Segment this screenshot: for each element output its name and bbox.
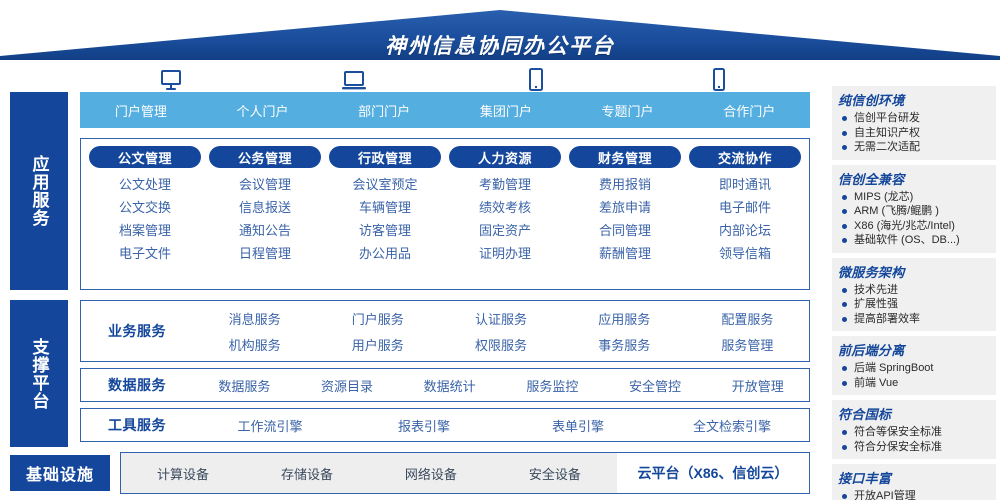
feature-section-title-5: 接口丰富 bbox=[838, 468, 990, 487]
tool-cell-0[interactable]: 工作流引擎 bbox=[193, 416, 347, 435]
app-item-2-2[interactable]: 访客管理 bbox=[359, 224, 411, 237]
feature-item-4-1: 符合分保安全标准 bbox=[838, 440, 990, 455]
tool-service-row: 工作流引擎 报表引擎 表单引擎 全文检索引擎 bbox=[193, 416, 809, 435]
app-item-4-0[interactable]: 费用报销 bbox=[599, 178, 651, 191]
platform-title: 神州信息协同办公平台 bbox=[0, 30, 1000, 60]
app-item-4-1[interactable]: 差旅申请 bbox=[599, 201, 651, 214]
app-item-5-3[interactable]: 领导信箱 bbox=[719, 247, 771, 260]
feature-item-5-0: 开放API管理 bbox=[838, 489, 990, 500]
app-column-2: 行政管理 会议室预定 车辆管理 访客管理 办公用品 bbox=[325, 146, 445, 285]
feature-section-title-0: 纯信创环境 bbox=[838, 90, 990, 109]
feature-section-title-1: 信创全兼容 bbox=[838, 169, 990, 188]
tablet-icon bbox=[528, 68, 544, 92]
app-item-3-2[interactable]: 固定资产 bbox=[479, 224, 531, 237]
app-item-1-1[interactable]: 信息报送 bbox=[239, 201, 291, 214]
data-service-row: 数据服务 资源目录 数据统计 服务监控 安全管控 开放管理 bbox=[193, 376, 809, 395]
feature-item-0-0: 信创平台研发 bbox=[838, 111, 990, 126]
business-cell-0-1[interactable]: 门户服务 bbox=[316, 309, 439, 328]
tool-cell-3[interactable]: 全文检索引擎 bbox=[655, 416, 809, 435]
feature-section-5: 接口丰富 开放API管理 bbox=[832, 464, 996, 500]
app-item-5-1[interactable]: 电子邮件 bbox=[719, 201, 771, 214]
app-item-2-3[interactable]: 办公用品 bbox=[359, 247, 411, 260]
infrastructure-box: 计算设备 存储设备 网络设备 安全设备 云平台（X86、信创云） bbox=[120, 452, 810, 494]
feature-item-3-0: 后端 SpringBoot bbox=[838, 361, 990, 376]
feature-item-2-0: 技术先进 bbox=[838, 283, 990, 298]
app-column-title-4[interactable]: 财务管理 bbox=[569, 146, 681, 168]
app-column-title-2[interactable]: 行政管理 bbox=[329, 146, 441, 168]
infra-cell-1[interactable]: 存储设备 bbox=[245, 464, 369, 483]
app-item-4-3[interactable]: 薪酬管理 bbox=[599, 247, 651, 260]
feature-section-0: 纯信创环境 信创平台研发 自主知识产权 无需二次适配 bbox=[832, 86, 996, 160]
feature-panel: 纯信创环境 信创平台研发 自主知识产权 无需二次适配 信创全兼容 MIPS (龙… bbox=[832, 86, 996, 500]
app-item-1-2[interactable]: 通知公告 bbox=[239, 224, 291, 237]
app-item-4-2[interactable]: 合同管理 bbox=[599, 224, 651, 237]
feature-section-4: 符合国标 符合等保安全标准 符合分保安全标准 bbox=[832, 400, 996, 459]
feature-section-2: 微服务架构 技术先进 扩展性强 提高部署效率 bbox=[832, 258, 996, 332]
device-cell-phone bbox=[628, 60, 811, 92]
feature-section-title-4: 符合国标 bbox=[838, 404, 990, 423]
data-cell-1[interactable]: 资源目录 bbox=[296, 376, 399, 395]
laptop-icon bbox=[341, 70, 367, 92]
business-cell-1-0[interactable]: 机构服务 bbox=[193, 335, 316, 354]
feature-item-0-2: 无需二次适配 bbox=[838, 140, 990, 155]
feature-section-title-3: 前后端分离 bbox=[838, 340, 990, 359]
data-cell-2[interactable]: 数据统计 bbox=[398, 376, 501, 395]
app-item-0-1[interactable]: 公文交换 bbox=[119, 201, 171, 214]
tool-service-grid: 工作流引擎 报表引擎 表单引擎 全文检索引擎 bbox=[193, 416, 809, 435]
feature-item-1-3: 基础软件 (OS、DB...) bbox=[838, 233, 990, 248]
diagram-root: 神州信息协同办公平台 bbox=[0, 0, 1000, 500]
business-cell-1-2[interactable]: 权限服务 bbox=[439, 335, 562, 354]
device-icon-row bbox=[80, 60, 810, 92]
feature-item-0-1: 自主知识产权 bbox=[838, 126, 990, 141]
desktop-monitor-icon bbox=[159, 68, 183, 92]
feature-item-1-1: ARM (飞腾/鲲鹏 ) bbox=[838, 204, 990, 219]
business-service-row-0: 消息服务 门户服务 认证服务 应用服务 配置服务 bbox=[193, 309, 809, 328]
device-cell-desktop bbox=[80, 60, 263, 92]
tool-cell-2[interactable]: 表单引擎 bbox=[501, 416, 655, 435]
business-service-grid: 消息服务 门户服务 认证服务 应用服务 配置服务 机构服务 用户服务 权限服务 … bbox=[193, 309, 809, 354]
app-item-3-0[interactable]: 考勤管理 bbox=[479, 178, 531, 191]
data-service-grid: 数据服务 资源目录 数据统计 服务监控 安全管控 开放管理 bbox=[193, 376, 809, 395]
portal-item-5[interactable]: 合作门户 bbox=[688, 101, 810, 120]
data-cell-0[interactable]: 数据服务 bbox=[193, 376, 296, 395]
app-item-3-1[interactable]: 绩效考核 bbox=[479, 201, 531, 214]
business-cell-0-2[interactable]: 认证服务 bbox=[439, 309, 562, 328]
app-column-title-5[interactable]: 交流协作 bbox=[689, 146, 801, 168]
app-item-0-3[interactable]: 电子文件 bbox=[119, 247, 171, 260]
tool-service-label: 工具服务 bbox=[81, 415, 193, 435]
infra-cell-2[interactable]: 网络设备 bbox=[369, 464, 493, 483]
feature-item-3-1: 前端 Vue bbox=[838, 376, 990, 391]
tool-service-box: 工具服务 工作流引擎 报表引擎 表单引擎 全文检索引擎 bbox=[80, 408, 810, 442]
feature-item-1-2: X86 (海光/兆芯/Intel) bbox=[838, 219, 990, 234]
infra-cell-0[interactable]: 计算设备 bbox=[121, 464, 245, 483]
app-column-4: 财务管理 费用报销 差旅申请 合同管理 薪酬管理 bbox=[565, 146, 685, 285]
data-service-label: 数据服务 bbox=[81, 375, 193, 395]
tool-cell-1[interactable]: 报表引擎 bbox=[347, 416, 501, 435]
infra-cell-3[interactable]: 安全设备 bbox=[493, 464, 617, 483]
rail-support-platform: 支撑平台 bbox=[10, 300, 68, 447]
business-service-label: 业务服务 bbox=[81, 321, 193, 341]
business-cell-0-4[interactable]: 配置服务 bbox=[686, 309, 809, 328]
app-item-0-2[interactable]: 档案管理 bbox=[119, 224, 171, 237]
application-module-box: 公文管理 公文处理 公文交换 档案管理 电子文件 公务管理 会议管理 信息报送 … bbox=[80, 138, 810, 290]
app-column-5: 交流协作 即时通讯 电子邮件 内部论坛 领导信箱 bbox=[685, 146, 805, 285]
business-cell-1-3[interactable]: 事务服务 bbox=[563, 335, 686, 354]
data-cell-3[interactable]: 服务监控 bbox=[501, 376, 604, 395]
app-column-3: 人力资源 考勤管理 绩效考核 固定资产 证明办理 bbox=[445, 146, 565, 285]
app-item-5-2[interactable]: 内部论坛 bbox=[719, 224, 771, 237]
data-service-box: 数据服务 数据服务 资源目录 数据统计 服务监控 安全管控 开放管理 bbox=[80, 368, 810, 402]
app-column-title-0[interactable]: 公文管理 bbox=[89, 146, 201, 168]
business-cell-1-1[interactable]: 用户服务 bbox=[316, 335, 439, 354]
app-column-1: 公务管理 会议管理 信息报送 通知公告 日程管理 bbox=[205, 146, 325, 285]
feature-item-4-0: 符合等保安全标准 bbox=[838, 425, 990, 440]
feature-item-1-0: MIPS (龙芯) bbox=[838, 190, 990, 205]
app-column-0: 公文管理 公文处理 公文交换 档案管理 电子文件 bbox=[85, 146, 205, 285]
app-item-0-0[interactable]: 公文处理 bbox=[119, 178, 171, 191]
app-item-2-1[interactable]: 车辆管理 bbox=[359, 201, 411, 214]
data-cell-4[interactable]: 安全管控 bbox=[604, 376, 707, 395]
portal-item-1[interactable]: 个人门户 bbox=[202, 101, 324, 120]
portal-item-3[interactable]: 集团门户 bbox=[445, 101, 567, 120]
business-service-row-1: 机构服务 用户服务 权限服务 事务服务 服务管理 bbox=[193, 335, 809, 354]
infra-cell-cloud-platform[interactable]: 云平台（X86、信创云） bbox=[617, 453, 809, 493]
portal-item-0[interactable]: 门户管理 bbox=[80, 101, 202, 120]
app-item-1-0[interactable]: 会议管理 bbox=[239, 178, 291, 191]
device-cell-tablet bbox=[445, 60, 628, 92]
rail-application-service: 应用服务 bbox=[10, 92, 68, 290]
business-cell-0-0[interactable]: 消息服务 bbox=[193, 309, 316, 328]
phone-icon bbox=[712, 68, 726, 92]
feature-section-3: 前后端分离 后端 SpringBoot 前端 Vue bbox=[832, 336, 996, 395]
business-service-box: 业务服务 消息服务 门户服务 认证服务 应用服务 配置服务 机构服务 用户服务 … bbox=[80, 300, 810, 362]
portal-item-2[interactable]: 部门门户 bbox=[323, 101, 445, 120]
app-item-1-3[interactable]: 日程管理 bbox=[239, 247, 291, 260]
app-item-2-0[interactable]: 会议室预定 bbox=[352, 178, 417, 191]
portal-bar: 门户管理 个人门户 部门门户 集团门户 专题门户 合作门户 bbox=[80, 92, 810, 128]
portal-item-4[interactable]: 专题门户 bbox=[567, 101, 689, 120]
feature-section-title-2: 微服务架构 bbox=[838, 262, 990, 281]
roof-banner: 神州信息协同办公平台 bbox=[0, 8, 1000, 60]
feature-item-2-2: 提高部署效率 bbox=[838, 312, 990, 327]
data-cell-5[interactable]: 开放管理 bbox=[706, 376, 809, 395]
business-cell-1-4[interactable]: 服务管理 bbox=[686, 335, 809, 354]
feature-item-2-1: 扩展性强 bbox=[838, 297, 990, 312]
app-item-3-3[interactable]: 证明办理 bbox=[479, 247, 531, 260]
feature-section-1: 信创全兼容 MIPS (龙芯) ARM (飞腾/鲲鹏 ) X86 (海光/兆芯/… bbox=[832, 165, 996, 253]
app-column-title-1[interactable]: 公务管理 bbox=[209, 146, 321, 168]
device-cell-laptop bbox=[263, 60, 446, 92]
app-item-5-0[interactable]: 即时通讯 bbox=[719, 178, 771, 191]
rail-infrastructure: 基础设施 bbox=[10, 455, 110, 491]
app-column-title-3[interactable]: 人力资源 bbox=[449, 146, 561, 168]
business-cell-0-3[interactable]: 应用服务 bbox=[563, 309, 686, 328]
